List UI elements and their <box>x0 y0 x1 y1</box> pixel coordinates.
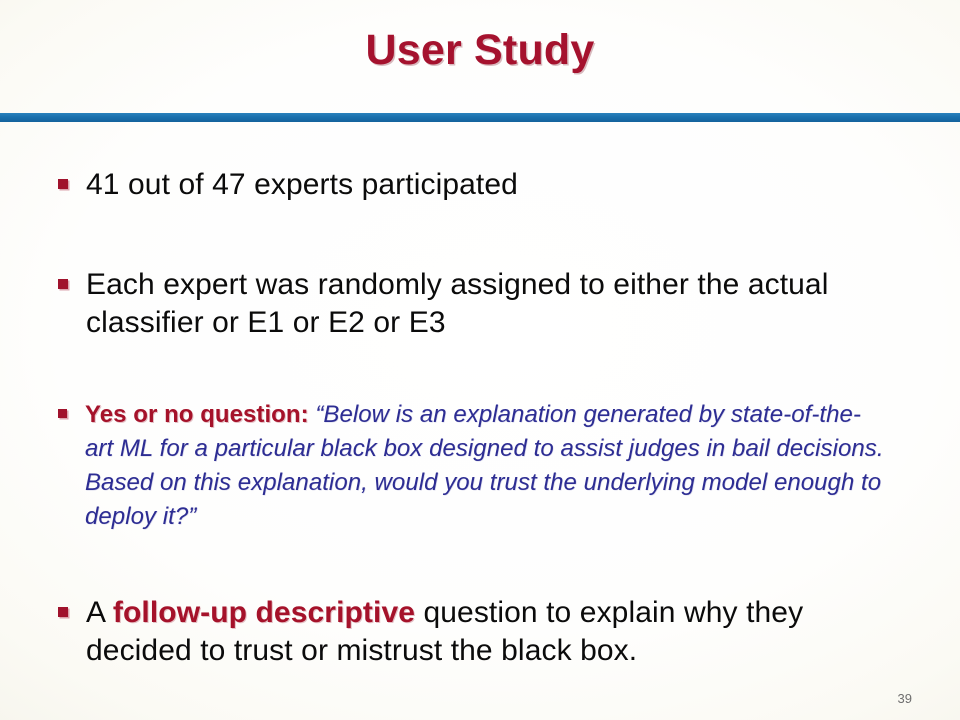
square-bullet-icon <box>58 607 68 617</box>
list-item-participation: 41 out of 47 experts participated <box>58 166 888 204</box>
follow-up-emphasis: follow-up descriptive <box>113 596 415 629</box>
square-bullet-icon <box>58 279 68 289</box>
list-item-label: 41 out of 47 experts participated <box>86 166 888 204</box>
bullet-list: 41 out of 47 experts participated Each e… <box>0 122 960 720</box>
page-title: User Study <box>365 28 594 73</box>
yes-no-question-label: Yes or no question: <box>85 401 309 428</box>
follow-up-text-before: A <box>86 596 113 629</box>
title-divider-rule <box>0 113 960 122</box>
list-item-label: A follow-up descriptive question to expl… <box>86 594 878 670</box>
list-item-yes-no-question: Yes or no question: “Below is an explana… <box>58 398 888 534</box>
square-bullet-icon <box>58 409 67 418</box>
list-item-label: Yes or no question: “Below is an explana… <box>85 398 888 534</box>
square-bullet-icon <box>58 179 68 189</box>
list-item-assignment: Each expert was randomly assigned to eit… <box>58 266 878 342</box>
list-item-label: Each expert was randomly assigned to eit… <box>86 266 878 342</box>
list-item-follow-up-question: A follow-up descriptive question to expl… <box>58 594 878 670</box>
page-number: 39 <box>898 691 912 706</box>
title-area: User Study <box>0 28 960 73</box>
slide: User Study 41 out of 47 experts particip… <box>0 0 960 720</box>
